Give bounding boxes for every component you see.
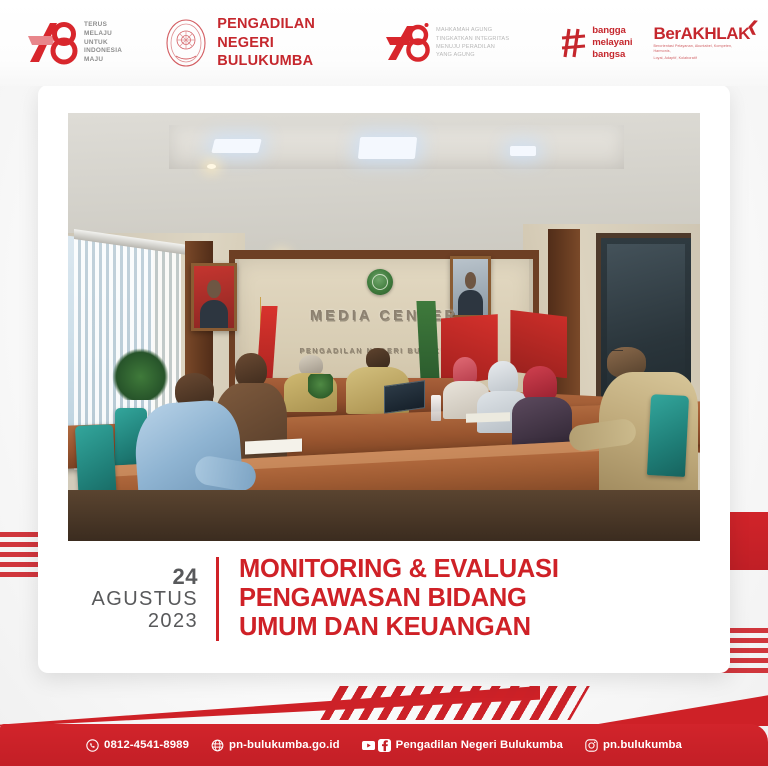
hut-ri-78-mark-icon	[26, 18, 78, 68]
footer-website-text: pn-bulukumba.go.id	[229, 739, 340, 751]
title-line-2: PENGAWASAN BIDANG	[239, 584, 559, 613]
portrait-head	[465, 272, 477, 289]
ceiling-light-3	[510, 146, 535, 156]
title-line-3: UMUM DAN KEUANGAN	[239, 613, 559, 642]
header-logo-strip: TERUS MELAJU UNTUK INDONESIA MAJU	[0, 0, 768, 86]
person-head	[523, 366, 557, 401]
footer-social-icons	[362, 739, 391, 752]
mahkamah-agung-78-mark-icon	[385, 20, 431, 66]
documents-right	[466, 412, 510, 423]
hut-ri-78-logo: TERUS MELAJU UNTUK INDONESIA MAJU	[26, 18, 122, 68]
bmb-line-2: bangsa	[592, 49, 632, 61]
footer-instagram-text: pn.bulukumba	[603, 739, 682, 751]
bangga-melayani-bangsa-logo: bangga melayani bangsa ❮ BerAKHLAK Beror…	[561, 25, 750, 62]
content-card: MEDIA CENTER PENGADILAN NEGERI BULUKUMBA…	[38, 85, 730, 673]
berakhlak-logo: ❮ BerAKHLAK Berorientasi Pelayanan, Akun…	[653, 25, 750, 62]
ma-title: MAHKAMAH AGUNG	[436, 26, 509, 34]
berakhlak-tick-icon: ❮	[746, 17, 760, 35]
pengadilan-negeri-name: PENGADILAN NEGERI BULUKUMBA	[217, 15, 339, 71]
poster-canvas: TERUS MELAJU UNTUK INDONESIA MAJU	[0, 0, 768, 766]
instagram-icon	[585, 739, 598, 752]
court-line-1: PENGADILAN NEGERI	[217, 15, 339, 52]
ma-tagline-0: TINGKATKAN INTEGRITAS	[436, 35, 509, 43]
pengadilan-negeri-logo: PENGADILAN NEGERI BULUKUMBA	[164, 15, 339, 71]
photo-floor	[68, 490, 700, 541]
wall-sign-title: MEDIA CENTER	[68, 308, 700, 324]
bmb-line-0: bangga	[592, 25, 632, 37]
footer-phone[interactable]: 0812-4541-8989	[86, 739, 189, 752]
hut-line-4: MAJU	[84, 56, 122, 65]
ceiling-light-1	[212, 139, 263, 153]
caption-block: 24 AGUSTUS 2023 MONITORING & EVALUASI PE…	[68, 555, 700, 642]
event-title: MONITORING & EVALUASI PENGAWASAN BIDANG …	[239, 555, 559, 642]
ma-tagline-2: YANG AGUNG	[436, 51, 509, 59]
chair-right-front	[647, 395, 689, 478]
decor-footer-stripes	[320, 686, 590, 720]
berakhlak-sub-2: Loyal, Adaptif, Kolaboratif	[653, 56, 750, 61]
hut-line-1: MELAJU	[84, 30, 122, 39]
facebook-icon	[378, 739, 391, 752]
whatsapp-icon	[86, 739, 99, 752]
youtube-icon	[362, 739, 375, 752]
footer-social[interactable]: Pengadilan Negeri Bulukumba	[362, 739, 563, 752]
footer-contact-bar: 0812-4541-8989 pn-bulukumba.go.id	[0, 724, 768, 766]
caption-divider	[216, 557, 219, 641]
hut-line-0: TERUS	[84, 21, 122, 30]
bangga-melayani-mark-icon	[561, 27, 587, 59]
mahkamah-agung-emblem-icon	[367, 269, 393, 295]
court-line-2: BULUKUMBA	[217, 52, 339, 71]
date-year: 2023	[68, 610, 198, 632]
footer-website[interactable]: pn-bulukumba.go.id	[211, 739, 340, 752]
footer-phone-text: 0812-4541-8989	[104, 739, 189, 751]
date-month: AGUSTUS	[68, 588, 198, 610]
eyeglasses-icon	[611, 350, 623, 351]
laptop	[384, 380, 425, 414]
hut-ri-78-tagline: TERUS MELAJU UNTUK INDONESIA MAJU	[84, 21, 122, 64]
footer-social-text: Pengadilan Negeri Bulukumba	[396, 739, 563, 751]
ceiling-light-2	[358, 137, 417, 159]
person-body	[512, 397, 573, 448]
title-line-1: MONITORING & EVALUASI	[239, 555, 559, 584]
pengadilan-negeri-seal-icon	[164, 18, 208, 68]
globe-icon	[211, 739, 224, 752]
mahkamah-agung-tagline: MAHKAMAH AGUNG TINGKATKAN INTEGRITAS MEN…	[436, 26, 509, 60]
date-day: 24	[68, 565, 198, 588]
bmb-line-1: melayani	[592, 37, 632, 49]
berakhlak-sub-1: Berorientasi Pelayanan, Akuntabel, Kompe…	[653, 44, 750, 54]
participant-right-3	[510, 366, 573, 443]
event-date: 24 AGUSTUS 2023	[68, 565, 216, 633]
water-bottle	[431, 395, 440, 421]
hut-line-3: INDONESIA	[84, 47, 122, 56]
mahkamah-agung-78-logo: MAHKAMAH AGUNG TINGKATKAN INTEGRITAS MEN…	[385, 20, 509, 66]
hut-line-2: UNTUK	[84, 39, 122, 48]
portrait-head	[207, 280, 220, 299]
ma-tagline-1: MENUJU PERADILAN	[436, 43, 509, 51]
footer-instagram[interactable]: pn.bulukumba	[585, 739, 682, 752]
berakhlak-word: BerAKHLAK	[653, 25, 750, 42]
bangga-melayani-words: bangga melayani bangsa	[592, 25, 632, 60]
event-photo: MEDIA CENTER PENGADILAN NEGERI BULUKUMBA…	[68, 113, 700, 541]
